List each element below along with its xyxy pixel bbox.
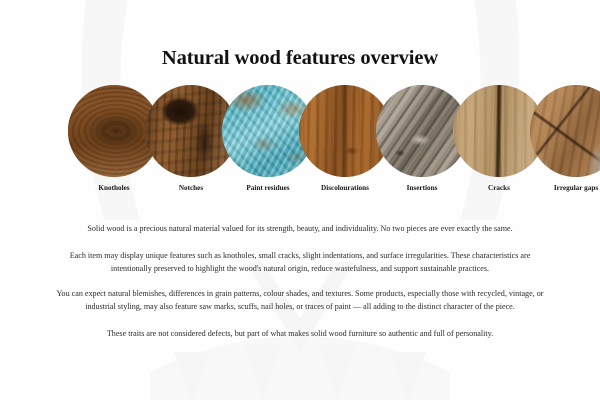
body-copy: Solid wood is a precious natural materia… — [40, 222, 560, 341]
page-root: Natural wood features overview Knotholes… — [0, 0, 600, 400]
feature-image-irregular-gaps — [530, 85, 600, 177]
paragraph-intro: Solid wood is a precious natural materia… — [40, 222, 560, 236]
paragraph-conclusion: These traits are not considered defects,… — [40, 327, 560, 341]
feature-item-irregular-gaps[interactable]: Irregular gaps — [530, 85, 600, 192]
wood-irregular-gap-circle-image — [530, 85, 600, 177]
feature-strip: Knotholes Notches Paint residues Discolo… — [0, 85, 600, 197]
feature-label-irregular-gaps: Irregular gaps — [530, 184, 600, 192]
page-title: Natural wood features overview — [0, 47, 600, 70]
paragraph-blemishes: You can expect natural blemishes, differ… — [40, 287, 560, 314]
paragraph-features: Each item may display unique features su… — [40, 249, 560, 276]
